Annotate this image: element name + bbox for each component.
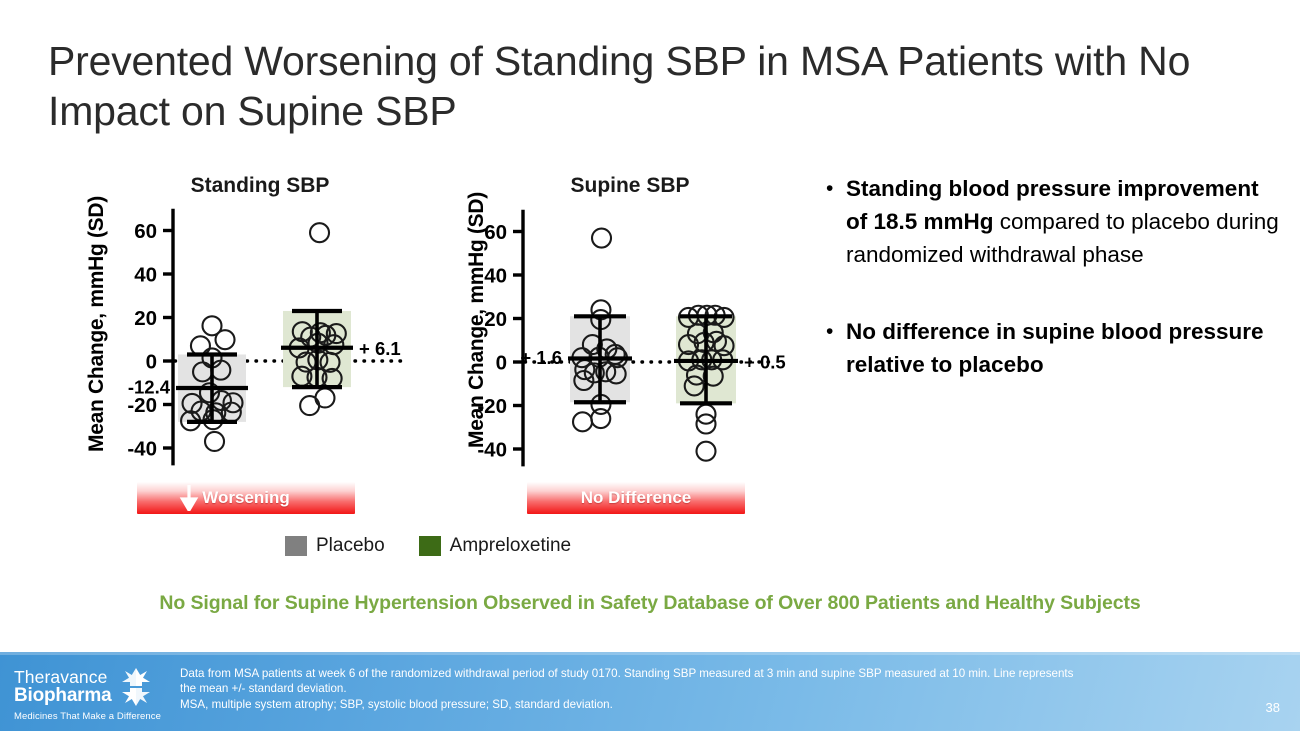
footnote-line-2: the mean +/- standard deviation. — [180, 681, 1240, 696]
list-item: • Standing blood pressure improvement of… — [826, 172, 1286, 271]
svg-text:60: 60 — [134, 220, 157, 243]
scatter-plot-standing: 6040200-20-40-12.4+ 6.1 — [60, 160, 460, 520]
worsening-banner-label: Worsening — [202, 488, 290, 508]
svg-text:-40: -40 — [477, 439, 507, 462]
bullet-dot-icon: • — [826, 315, 846, 381]
scatter-plot-supine: 6040200-20-40+ 1.6+ 0.5 — [440, 160, 810, 520]
bullet-bold-2: No difference in supine blood pressure r… — [846, 319, 1264, 377]
footnotes: Data from MSA patients at week 6 of the … — [180, 666, 1240, 712]
logo-tagline: Medicines That Make a Difference — [14, 711, 174, 722]
svg-text:-12.4: -12.4 — [128, 376, 171, 397]
svg-text:+ 0.5: + 0.5 — [744, 351, 786, 372]
svg-text:0: 0 — [496, 352, 507, 375]
footnote-line-3: MSA, multiple system atrophy; SBP, systo… — [180, 697, 1240, 712]
worsening-banner: Worsening — [137, 482, 355, 514]
svg-text:40: 40 — [484, 265, 507, 288]
down-arrow-icon — [179, 485, 199, 511]
no-difference-banner-label: No Difference — [581, 488, 692, 508]
logo-line-2: Biopharma — [14, 686, 111, 706]
svg-text:+ 6.1: + 6.1 — [359, 338, 401, 359]
bullet-text-2: No difference in supine blood pressure r… — [846, 315, 1286, 381]
svg-text:-40: -40 — [127, 438, 157, 461]
key-findings-list: • Standing blood pressure improvement of… — [826, 172, 1286, 425]
svg-text:40: 40 — [134, 264, 157, 287]
legend-item-placebo: Placebo — [285, 535, 385, 557]
theravance-star-icon — [116, 666, 156, 708]
chart-legend: Placebo Ampreloxetine — [285, 535, 571, 557]
logo-line-1: Theravance — [14, 668, 111, 686]
no-difference-banner: No Difference — [527, 482, 745, 514]
legend-label-placebo: Placebo — [316, 535, 385, 557]
svg-text:20: 20 — [134, 307, 157, 330]
legend-label-ampreloxetine: Ampreloxetine — [450, 535, 571, 557]
safety-banner: No Signal for Supine Hypertension Observ… — [0, 592, 1300, 615]
legend-swatch-placebo — [285, 536, 307, 556]
svg-text:20: 20 — [484, 308, 507, 331]
svg-text:60: 60 — [484, 221, 507, 244]
slide-root: Prevented Worsening of Standing SBP in M… — [0, 0, 1300, 731]
page-number: 38 — [1266, 700, 1280, 715]
svg-text:0: 0 — [146, 351, 157, 374]
page-title: Prevented Worsening of Standing SBP in M… — [48, 36, 1228, 136]
list-item: • No difference in supine blood pressure… — [826, 315, 1286, 381]
bullet-text-1: Standing blood pressure improvement of 1… — [846, 172, 1286, 271]
legend-item-ampreloxetine: Ampreloxetine — [419, 535, 571, 557]
company-logo: Theravance Biopharma Medicines That Make… — [14, 666, 174, 722]
svg-text:-20: -20 — [477, 395, 507, 418]
svg-text:+ 1.6: + 1.6 — [520, 347, 562, 368]
bullet-dot-icon: • — [826, 172, 846, 271]
footnote-line-1: Data from MSA patients at week 6 of the … — [180, 666, 1240, 681]
legend-swatch-ampreloxetine — [419, 536, 441, 556]
